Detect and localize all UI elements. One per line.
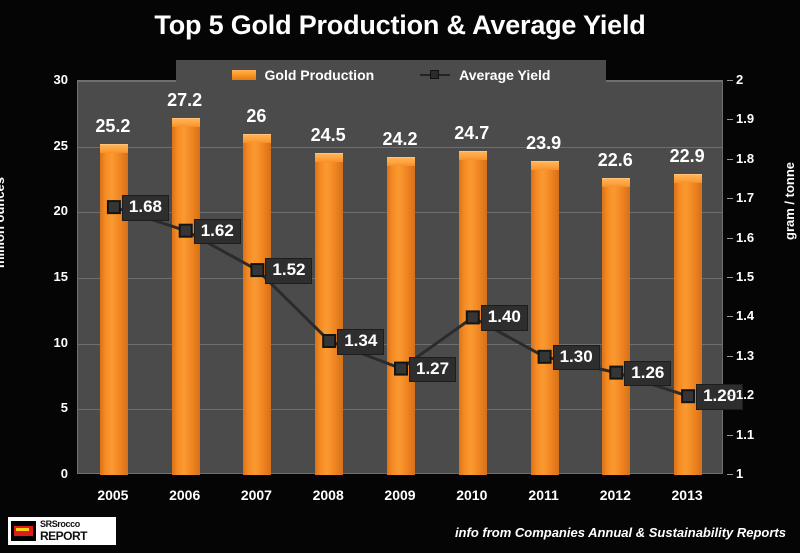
bar-cap: [315, 153, 343, 162]
line-swatch-icon: [420, 69, 450, 80]
chart-container: Top 5 Gold Production & Average Yield Go…: [0, 0, 800, 553]
bar: [674, 174, 702, 475]
y-axis-tickmark-right: [727, 474, 733, 475]
legend-item-gold-production[interactable]: Gold Production: [232, 67, 375, 83]
y-axis-tick-right: 1.3: [736, 348, 754, 363]
line-value-label: 1.68: [122, 195, 169, 221]
y-axis-tickmark-right: [727, 356, 733, 357]
bar: [315, 153, 343, 475]
y-axis-tick-right: 1.1: [736, 427, 754, 442]
y-axis-tick-left: 10: [34, 335, 68, 350]
srsrocco-report-logo: SRSrocco REPORT: [8, 517, 116, 545]
bar-value-label: 23.9: [526, 133, 561, 154]
y-axis-tickmark-right: [727, 395, 733, 396]
y-axis-title-right: gram / tonne: [782, 162, 797, 240]
line-value-label: 1.40: [481, 305, 528, 331]
y-axis-tick-right: 1.4: [736, 308, 754, 323]
y-axis-tick-left: 25: [34, 138, 68, 153]
y-axis-tick-left: 5: [34, 400, 68, 415]
bar-cap: [602, 178, 630, 187]
y-axis-tick-right: 1.8: [736, 151, 754, 166]
bar-cap: [459, 151, 487, 160]
x-axis-tick-2010: 2010: [456, 487, 487, 503]
y-axis-tick-right: 2: [736, 72, 743, 87]
x-axis-tick-2013: 2013: [672, 487, 703, 503]
y-axis-tickmark-right: [727, 119, 733, 120]
line-value-label: 1.34: [337, 329, 384, 355]
legend-label-gold-production: Gold Production: [265, 67, 375, 83]
x-axis-tick-2012: 2012: [600, 487, 631, 503]
y-axis-tick-right: 1.2: [736, 387, 754, 402]
y-axis-tickmark-right: [727, 316, 733, 317]
y-axis-tick-right: 1: [736, 466, 743, 481]
logo-text: SRSrocco REPORT: [40, 520, 113, 542]
bar: [602, 178, 630, 475]
logo-top-text: SRSrocco: [40, 520, 113, 529]
y-axis-tick-right: 1.5: [736, 269, 754, 284]
bar-swatch-icon: [232, 70, 256, 80]
bar: [531, 161, 559, 475]
y-axis-tickmark-right: [727, 277, 733, 278]
x-axis-tick-2005: 2005: [97, 487, 128, 503]
x-axis-tick-2007: 2007: [241, 487, 272, 503]
logo-bottom-text: REPORT: [40, 530, 113, 542]
bar: [243, 134, 271, 476]
bar-cap: [172, 118, 200, 127]
line-value-label: 1.26: [624, 361, 671, 387]
bar-cap: [100, 144, 128, 153]
y-axis-tick-right: 1.9: [736, 111, 754, 126]
y-axis-title-left: million ounces: [0, 177, 7, 268]
y-axis-tickmark-right: [727, 198, 733, 199]
bar-value-label: 24.2: [382, 129, 417, 150]
y-axis-tick-left: 15: [34, 269, 68, 284]
bar-cap: [243, 134, 271, 143]
y-axis-tickmark-right: [727, 80, 733, 81]
x-axis-tick-2008: 2008: [313, 487, 344, 503]
line-value-label: 1.27: [409, 357, 456, 383]
bar-value-label: 26: [246, 106, 266, 127]
y-axis-tickmark-right: [727, 159, 733, 160]
y-axis-tickmark-right: [727, 435, 733, 436]
x-axis-tick-2009: 2009: [384, 487, 415, 503]
chart-legend: Gold Production Average Yield: [176, 60, 606, 89]
bar-value-label: 25.2: [95, 116, 130, 137]
y-axis-tickmark-right: [727, 238, 733, 239]
bar-value-label: 24.7: [454, 123, 489, 144]
chart-title: Top 5 Gold Production & Average Yield: [0, 10, 800, 41]
bar-value-label: 22.9: [670, 146, 705, 167]
line-value-label: 1.62: [194, 219, 241, 245]
bar-cap: [531, 161, 559, 170]
legend-label-average-yield: Average Yield: [459, 67, 550, 83]
x-axis-tick-2011: 2011: [528, 487, 558, 503]
y-axis-tick-right: 1.6: [736, 230, 754, 245]
y-axis-tick-left: 30: [34, 72, 68, 87]
line-value-label: 1.52: [265, 258, 312, 284]
y-axis-tick-left: 20: [34, 203, 68, 218]
logo-mark-icon: [11, 521, 36, 541]
bar: [387, 157, 415, 475]
bar: [172, 118, 200, 475]
x-axis-tick-2006: 2006: [169, 487, 200, 503]
y-axis-tick-left: 0: [34, 466, 68, 481]
bar-value-label: 27.2: [167, 90, 202, 111]
line-value-label: 1.30: [553, 345, 600, 371]
bar: [100, 144, 128, 475]
y-axis-tick-right: 1.7: [736, 190, 754, 205]
legend-item-average-yield[interactable]: Average Yield: [420, 67, 550, 83]
bar-cap: [387, 157, 415, 166]
bar-value-label: 24.5: [311, 125, 346, 146]
bar-cap: [674, 174, 702, 183]
source-note: info from Companies Annual & Sustainabil…: [455, 525, 786, 540]
bar-value-label: 22.6: [598, 150, 633, 171]
